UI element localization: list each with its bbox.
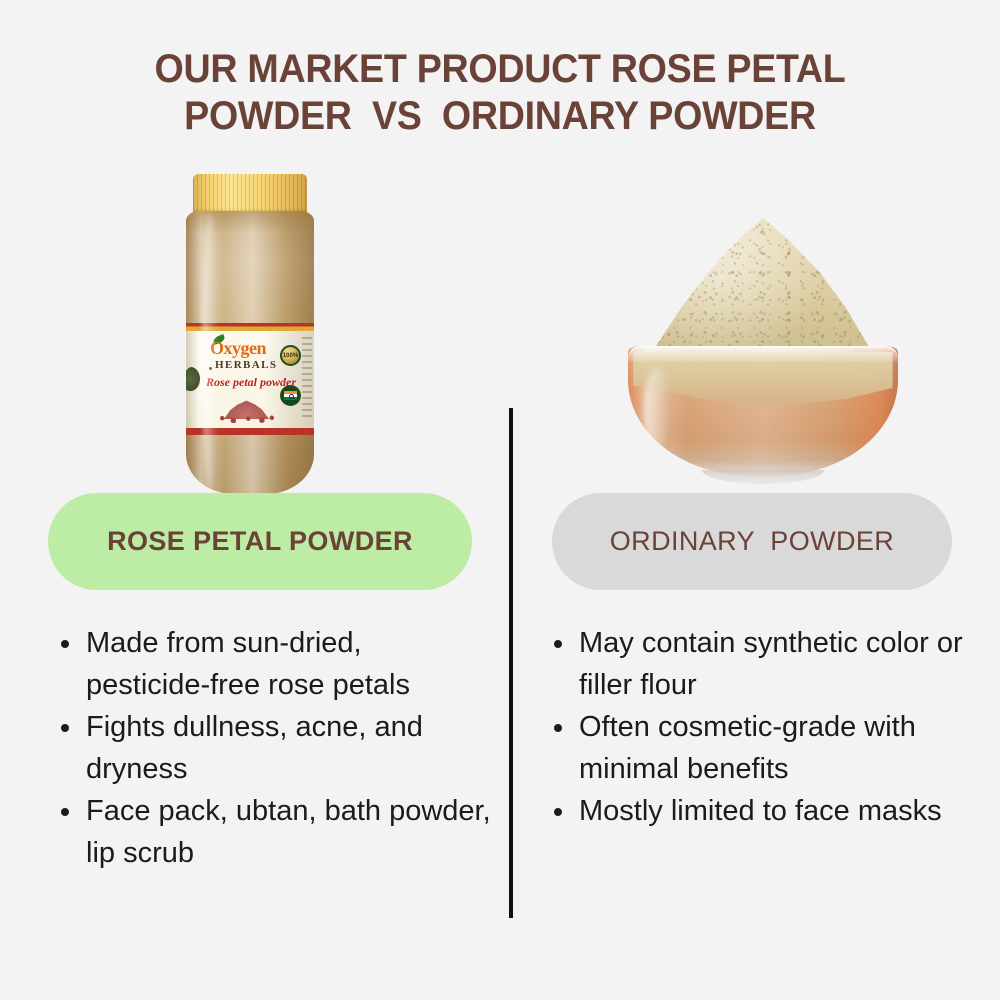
list-item: Face pack, ubtan, bath powder, lip scrub <box>52 790 492 874</box>
flag-inner <box>284 391 297 400</box>
brand-name: Oxygen <box>210 339 266 357</box>
list-item: Fights dullness, acne, and dryness <box>52 706 492 790</box>
list-item: Mostly limited to face masks <box>545 790 965 832</box>
product-images-row: Oxygen HERBALS Rose petal powder 100% <box>0 160 1000 490</box>
brand-subtitle: HERBALS <box>215 359 277 371</box>
list-item: May contain synthetic color or filler fl… <box>545 622 965 706</box>
leaf-illustration-icon <box>186 367 200 391</box>
jar-body: Oxygen HERBALS Rose petal powder 100% <box>186 211 314 494</box>
list-item: Made from sun-dried, pesticide-free rose… <box>52 622 492 706</box>
bowl-base-shadow <box>702 470 824 484</box>
jar-label: Oxygen HERBALS Rose petal powder 100% <box>186 323 314 435</box>
jar-shoulder <box>186 211 314 233</box>
ordinary-powder-pill: ORDINARY POWDER <box>552 493 952 590</box>
column-divider <box>509 408 513 918</box>
ordinary-powder-bowl-image <box>628 218 898 480</box>
label-bottom-stripe <box>186 428 314 435</box>
jar-cap <box>193 174 307 214</box>
rose-petal-powder-jar-image: Oxygen HERBALS Rose petal powder 100% <box>186 174 314 494</box>
india-flag-badge-icon <box>280 385 301 406</box>
label-top-stripe <box>186 323 314 331</box>
bowl-rim <box>628 346 898 362</box>
page-title-line-1: OUR MARKET PRODUCT ROSE PETAL <box>30 46 970 93</box>
rose-petal-powder-benefits-list: Made from sun-dried, pesticide-free rose… <box>52 622 492 874</box>
rose-petal-powder-illustration <box>216 395 278 423</box>
page-title: OUR MARKET PRODUCT ROSE PETAL POWDER VS … <box>30 46 970 140</box>
page-title-line-2: POWDER VS ORDINARY POWDER <box>30 93 970 140</box>
glass-bowl <box>628 346 898 476</box>
list-item: Often cosmetic-grade with minimal benefi… <box>545 706 965 790</box>
hundred-percent-badge-icon: 100% <box>280 345 301 366</box>
rose-petal-powder-pill: ROSE PETAL POWDER <box>48 493 472 590</box>
bowl-highlight <box>644 368 670 450</box>
ordinary-powder-drawbacks-list: May contain synthetic color or filler fl… <box>545 622 965 832</box>
label-side-text <box>302 337 312 421</box>
